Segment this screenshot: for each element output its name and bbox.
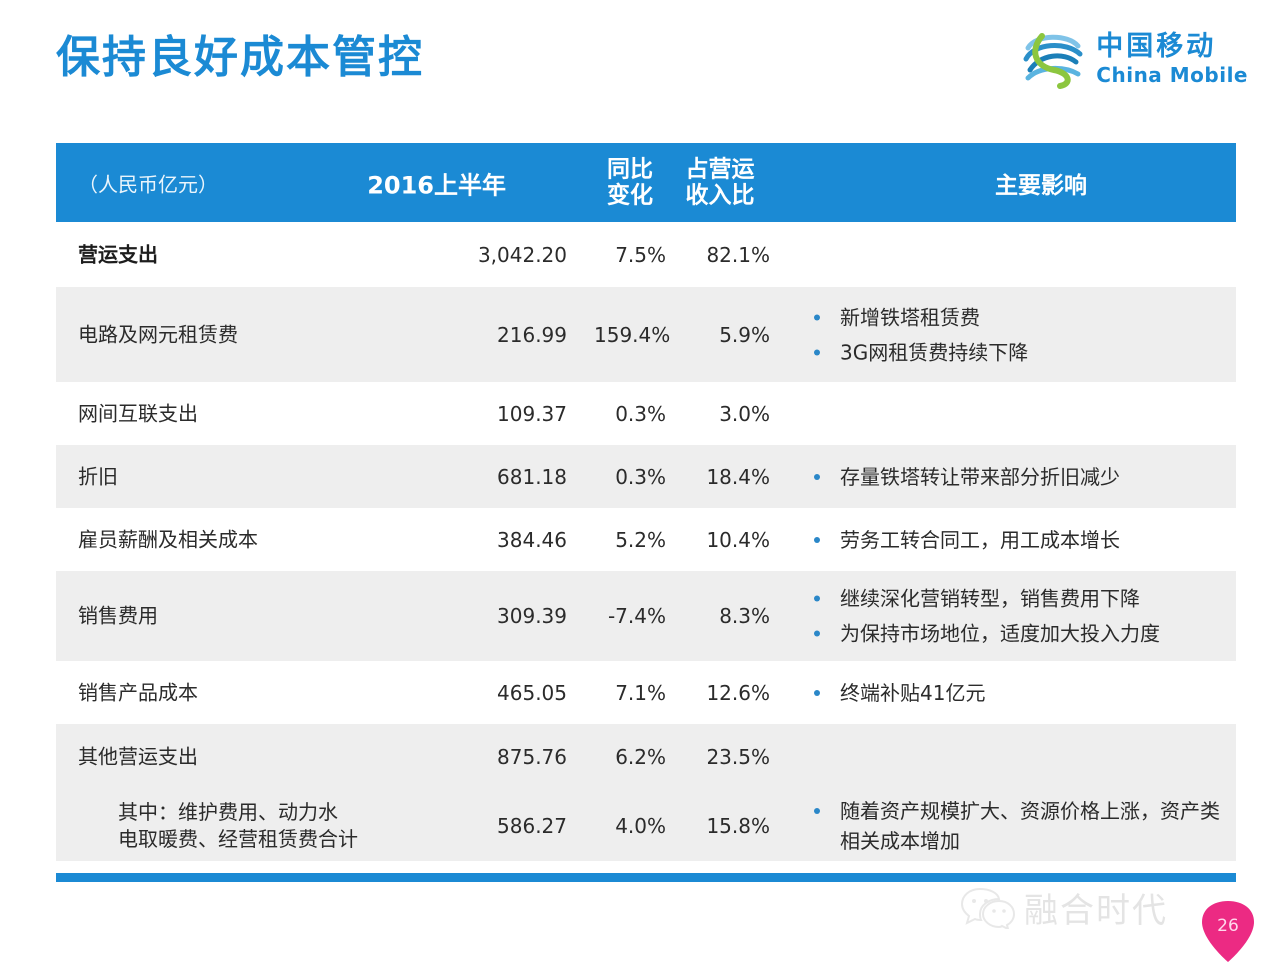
- impact-text: 存量铁塔转让带来部分折旧减少: [840, 462, 1228, 492]
- table-row: 销售产品成本465.057.1%12.6%终端补贴41亿元: [56, 661, 1236, 724]
- row-label: 销售产品成本: [78, 679, 198, 706]
- row-impact-list: 存量铁塔转让带来部分折旧减少: [808, 457, 1228, 497]
- logo-text-en: China Mobile: [1096, 65, 1248, 85]
- impact-bullet: 随着资产规模扩大、资源价格上涨，资产类相关成本增加: [808, 796, 1228, 856]
- row-value: 3,042.20: [478, 243, 567, 267]
- row-value: 384.46: [497, 528, 567, 552]
- row-label: 雇员薪酬及相关成本: [78, 526, 258, 553]
- column-header-period: 2016上半年: [367, 165, 506, 200]
- row-label: 销售费用: [78, 603, 158, 630]
- row-share: 3.0%: [678, 402, 770, 426]
- row-label: 折旧: [78, 463, 118, 490]
- table-row: 网间互联支出109.370.3%3.0%: [56, 382, 1236, 445]
- table-row: 雇员薪酬及相关成本384.465.2%10.4%劳务工转合同工，用工成本增长: [56, 508, 1236, 571]
- impact-text: 劳务工转合同工，用工成本增长: [840, 525, 1228, 555]
- row-share: 18.4%: [678, 465, 770, 489]
- impact-text: 为保持市场地位，适度加大投入力度: [840, 619, 1228, 649]
- impact-bullet: 继续深化营销转型，销售费用下降: [808, 584, 1228, 614]
- column-header-share-line2: 收入比: [686, 183, 755, 209]
- impact-bullet: 新增铁塔租赁费: [808, 302, 1228, 332]
- row-label: 其中：维护费用、动力水 电取暖费、经营租赁费合计: [118, 799, 358, 853]
- row-share: 10.4%: [678, 528, 770, 552]
- row-impact-list: 新增铁塔租赁费3G网租赁费持续下降: [808, 297, 1228, 372]
- column-header-share-line1: 占营运: [686, 156, 755, 182]
- row-share: 5.9%: [678, 323, 770, 347]
- row-yoy: 0.3%: [594, 465, 666, 489]
- logo-text: 中国移动 China Mobile: [1096, 33, 1248, 85]
- row-share: 82.1%: [678, 243, 770, 267]
- table-row: 销售费用309.39-7.4%8.3%继续深化营销转型，销售费用下降为保持市场地…: [56, 571, 1236, 661]
- column-header-yoy-line1: 同比: [607, 156, 653, 182]
- table-row: 其中：维护费用、动力水 电取暖费、经营租赁费合计586.274.0%15.8%随…: [56, 790, 1236, 861]
- row-value: 465.05: [497, 681, 567, 705]
- row-value: 875.76: [497, 745, 567, 769]
- bullet-dot-icon: [808, 474, 840, 480]
- china-mobile-mark-icon: [1020, 26, 1086, 92]
- column-header-yoy: 同比 变化: [594, 156, 666, 209]
- row-share: 8.3%: [678, 604, 770, 628]
- wechat-icon: [960, 885, 1016, 929]
- impact-bullet: 存量铁塔转让带来部分折旧减少: [808, 462, 1228, 492]
- table-header-row: （人民币亿元） 2016上半年 同比 变化 占营运 收入比 主要影响: [56, 143, 1236, 222]
- table-body: 营运支出3,042.207.5%82.1%电路及网元租赁费216.99159.4…: [56, 222, 1236, 861]
- cost-table: （人民币亿元） 2016上半年 同比 变化 占营运 收入比 主要影响 营运支出3…: [56, 143, 1236, 861]
- column-header-impact: 主要影响: [876, 166, 1206, 200]
- row-yoy: 7.1%: [594, 681, 666, 705]
- row-yoy: 7.5%: [594, 243, 666, 267]
- china-mobile-logo: 中国移动 China Mobile: [1020, 26, 1248, 92]
- bullet-dot-icon: [808, 631, 840, 637]
- row-label: 营运支出: [78, 241, 158, 268]
- impact-text: 终端补贴41亿元: [840, 678, 1228, 708]
- watermark-text: 融合时代: [1024, 883, 1168, 932]
- row-share: 23.5%: [678, 745, 770, 769]
- table-row: 其他营运支出875.766.2%23.5%: [56, 724, 1236, 790]
- impact-bullet: 为保持市场地位，适度加大投入力度: [808, 619, 1228, 649]
- row-impact-list: 终端补贴41亿元: [808, 673, 1228, 713]
- row-value: 309.39: [497, 604, 567, 628]
- bullet-dot-icon: [808, 314, 840, 320]
- page-title: 保持良好成本管控: [56, 34, 424, 82]
- impact-bullet: 3G网租赁费持续下降: [808, 337, 1228, 367]
- impact-bullet: 劳务工转合同工，用工成本增长: [808, 525, 1228, 555]
- row-yoy: 5.2%: [594, 528, 666, 552]
- column-header-yoy-line2: 变化: [607, 183, 653, 209]
- page-number: 26: [1200, 916, 1256, 936]
- row-impact-list: 随着资产规模扩大、资源价格上涨，资产类相关成本增加: [808, 791, 1228, 861]
- table-row: 营运支出3,042.207.5%82.1%: [56, 222, 1236, 287]
- bullet-dot-icon: [808, 808, 840, 814]
- column-header-share: 占营运 收入比: [670, 156, 770, 209]
- row-value: 216.99: [497, 323, 567, 347]
- row-label: 其他营运支出: [78, 744, 198, 771]
- row-label: 网间互联支出: [78, 400, 198, 427]
- impact-text: 3G网租赁费持续下降: [840, 337, 1228, 367]
- slide-root: 保持良好成本管控 中国移动 China Mobile （人民币亿元） 2016上…: [0, 0, 1280, 966]
- impact-bullet: 终端补贴41亿元: [808, 678, 1228, 708]
- row-share: 12.6%: [678, 681, 770, 705]
- page-number-pin: 26: [1200, 900, 1256, 962]
- logo-text-cn: 中国移动: [1096, 33, 1248, 60]
- column-header-unit: （人民币亿元）: [78, 168, 218, 197]
- table-row: 电路及网元租赁费216.99159.4%5.9%新增铁塔租赁费3G网租赁费持续下…: [56, 287, 1236, 382]
- table-row: 折旧681.180.3%18.4%存量铁塔转让带来部分折旧减少: [56, 445, 1236, 508]
- impact-text: 随着资产规模扩大、资源价格上涨，资产类相关成本增加: [840, 796, 1228, 856]
- impact-text: 继续深化营销转型，销售费用下降: [840, 584, 1228, 614]
- bullet-dot-icon: [808, 349, 840, 355]
- row-yoy: 159.4%: [594, 323, 666, 347]
- row-value: 681.18: [497, 465, 567, 489]
- bullet-dot-icon: [808, 596, 840, 602]
- impact-text: 新增铁塔租赁费: [840, 302, 1228, 332]
- row-yoy: 0.3%: [594, 402, 666, 426]
- row-yoy: 6.2%: [594, 745, 666, 769]
- row-yoy: -7.4%: [594, 604, 666, 628]
- row-impact-list: 劳务工转合同工，用工成本增长: [808, 520, 1228, 560]
- row-yoy: 4.0%: [594, 814, 666, 838]
- row-value: 586.27: [497, 814, 567, 838]
- row-value: 109.37: [497, 402, 567, 426]
- bottom-accent-bar: [56, 873, 1236, 882]
- bullet-dot-icon: [808, 690, 840, 696]
- bullet-dot-icon: [808, 537, 840, 543]
- row-label: 电路及网元租赁费: [78, 321, 238, 348]
- row-impact-list: 继续深化营销转型，销售费用下降为保持市场地位，适度加大投入力度: [808, 579, 1228, 654]
- row-share: 15.8%: [678, 814, 770, 838]
